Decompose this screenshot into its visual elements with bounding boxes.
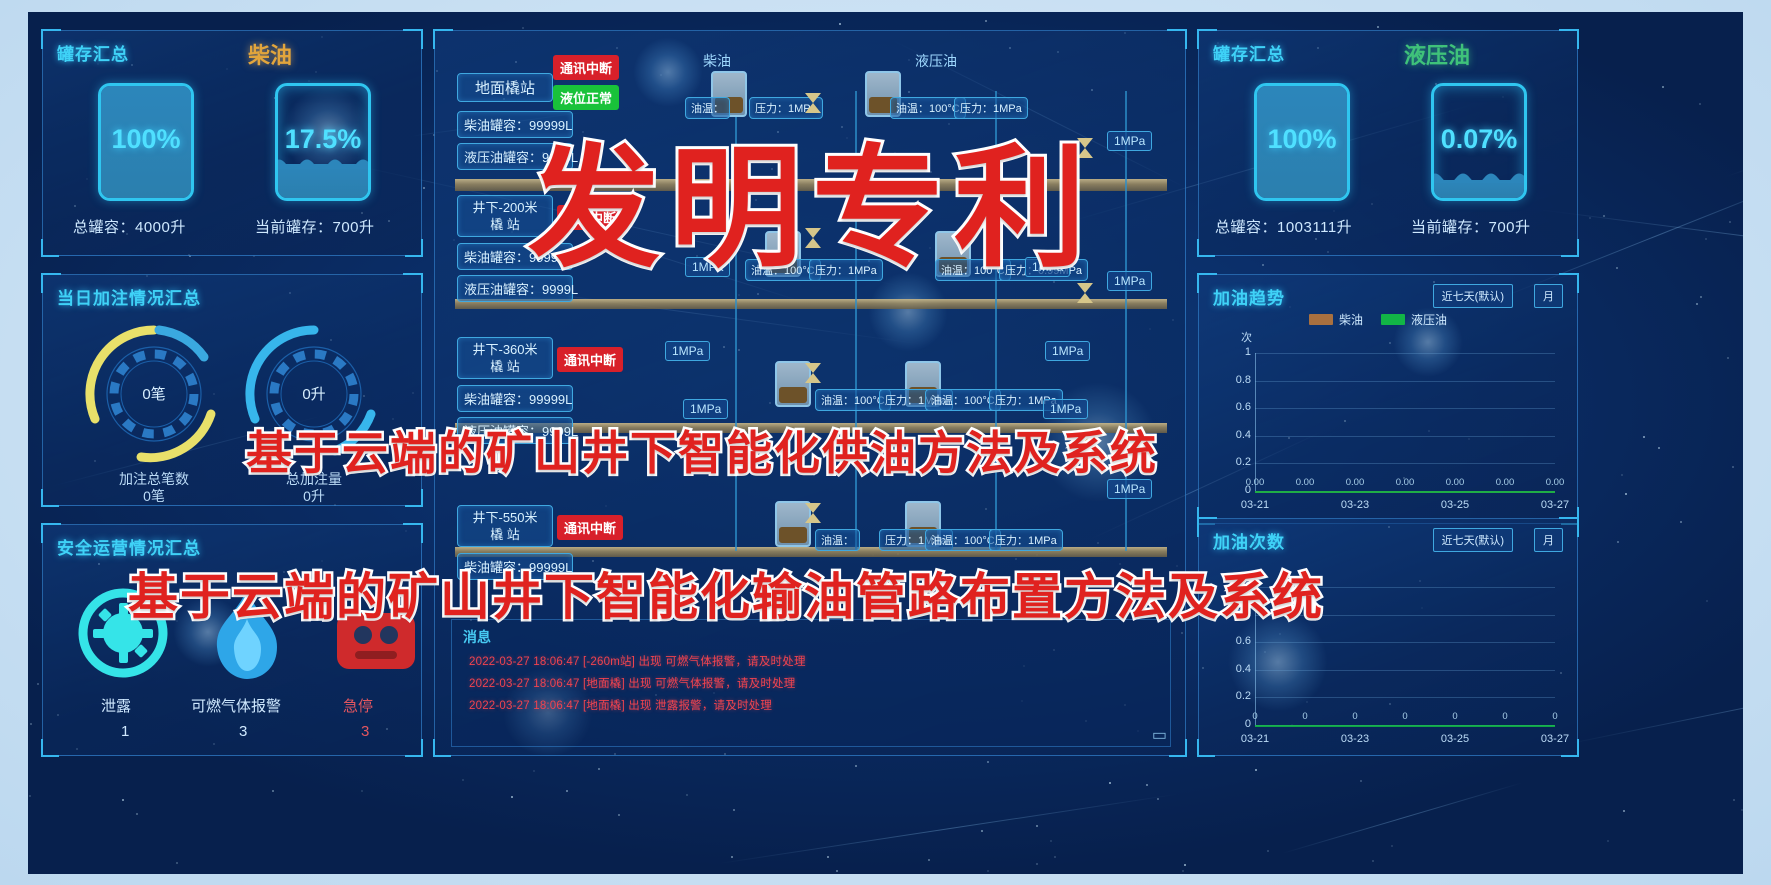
station-name: 地面橇站 — [457, 73, 553, 102]
log-line: 2022-03-27 18:06:47 [地面橇] 出现 可燃气体报警，请及时处… — [469, 675, 795, 691]
data-point-label: 0.00 — [1292, 477, 1318, 488]
chart-plot-area: 次00.20.40.60.8103-210.000.0003-230.000.0… — [1209, 327, 1569, 517]
watermark-line2: 基于云端的矿山井下智能化输油管路布置方法及系统 — [128, 557, 1324, 629]
pressure-tag: 1MPa — [1043, 399, 1088, 419]
data-point-label: 0 — [1342, 711, 1368, 722]
series-line-液压油 — [1255, 491, 1555, 493]
gauge1-sublabel: 0笔 — [79, 488, 229, 505]
label-total-capacity: 总罐容：1003111升 — [1215, 216, 1352, 237]
tank-current-pct: 0.07% — [1434, 124, 1524, 155]
wave-icon — [275, 155, 371, 169]
data-point-label: 0 — [1242, 711, 1268, 722]
panel-subtitle-diesel: 柴油 — [248, 38, 292, 70]
gauge1-label: 加注总笔数 — [79, 471, 229, 488]
x-tick-label: 03-21 — [1239, 499, 1271, 511]
collapse-icon[interactable]: ▭ — [1152, 725, 1167, 745]
tank-current-diesel: 17.5% — [275, 83, 371, 201]
x-tick-label: 03-23 — [1339, 733, 1371, 745]
y-tick-label: 1 — [1225, 346, 1251, 358]
grid-line — [1255, 697, 1555, 698]
pressure-tag: 1MPa — [1107, 271, 1152, 291]
x-tick-label: 03-27 — [1539, 499, 1571, 511]
tank-total-hydraulic: 100% — [1254, 83, 1350, 201]
panel-refuel-count-chart: 加油次数 近七天(默认) 月 00.20.40.60.8103-210003-2… — [1198, 518, 1578, 756]
x-tick-label: 03-25 — [1439, 733, 1471, 745]
panel-tank-summary-hydraulic: 罐存汇总 液压油 100% 0.07% 总罐容：1003111升 当前罐存：70… — [1198, 30, 1578, 256]
x-tick-label: 03-27 — [1539, 733, 1571, 745]
panel-subtitle-hydraulic: 液压油 — [1404, 38, 1470, 70]
station-name: 井下-550米橇 站 — [457, 505, 553, 547]
data-point-label: 0 — [1292, 711, 1318, 722]
tank-current-hydraulic: 0.07% — [1431, 83, 1527, 201]
y-axis-line — [1255, 353, 1256, 491]
count-range-last7-button[interactable]: 近七天(默认) — [1433, 528, 1513, 552]
grid-line — [1255, 436, 1555, 437]
panel-title: 加油趋势 — [1213, 284, 1285, 309]
gauge-value: 0笔 — [79, 383, 229, 404]
grid-line — [1255, 381, 1555, 382]
watermark-line1: 基于云端的矿山井下智能化供油方法及系统 — [246, 417, 1158, 483]
legend-item[interactable]: 液压油 — [1381, 311, 1447, 328]
gauge-value: 0升 — [239, 383, 389, 404]
grid-line — [1255, 642, 1555, 643]
legend-label: 柴油 — [1339, 311, 1363, 328]
data-point-label: 0.00 — [1342, 477, 1368, 488]
tank-readout: 压力：1MPa — [989, 529, 1063, 551]
safety-item3-label: 急停 — [343, 695, 373, 716]
data-point-label: 0.00 — [1242, 477, 1268, 488]
data-point-label: 0.00 — [1442, 477, 1468, 488]
tank-current-pct: 17.5% — [278, 124, 368, 155]
log-line: 2022-03-27 18:06:47 [-260m站] 出现 可燃气体报警，请… — [469, 653, 806, 669]
watermark-main: 发明专利 — [528, 102, 1096, 293]
grid-line — [1255, 353, 1555, 354]
x-tick-label: 03-21 — [1239, 733, 1271, 745]
trend-range-last7-button[interactable]: 近七天(默认) — [1433, 284, 1513, 308]
tank-fill-indicator — [779, 527, 807, 543]
data-point-label: 0.00 — [1392, 477, 1418, 488]
y-tick-label: 0.4 — [1225, 663, 1251, 675]
panel-refuel-trend-chart: 加油趋势 近七天(默认) 月 柴油 液压油 次00.20.40.60.8103-… — [1198, 274, 1578, 524]
station-status-badge: 通讯中断 — [557, 347, 623, 372]
valve-icon — [803, 501, 823, 525]
data-point-label: 0 — [1492, 711, 1518, 722]
station-capacity-row: 柴油罐容：99999L — [457, 385, 573, 412]
tank-total-pct: 100% — [101, 124, 191, 155]
legend-item[interactable]: 柴油 — [1309, 311, 1363, 328]
safety-item1-label: 泄露 — [101, 695, 131, 716]
station-status-badge: 通讯中断 — [557, 515, 623, 540]
y-tick-label: 0.6 — [1225, 401, 1251, 413]
outer-frame: 罐存汇总 柴油 100% 17.5% 总罐容：4000升 当前罐存：700升 当… — [0, 0, 1771, 885]
y-tick-label: 0.2 — [1225, 456, 1251, 468]
pressure-tag: 1MPa — [1107, 131, 1152, 151]
data-point-label: 0.00 — [1542, 477, 1568, 488]
valve-icon — [803, 361, 823, 385]
grid-line — [1255, 463, 1555, 464]
grid-line — [1255, 408, 1555, 409]
safety-item2-value: 3 — [239, 723, 247, 740]
panel-title: 加油次数 — [1213, 528, 1285, 553]
data-point-label: 0 — [1442, 711, 1468, 722]
y-tick-label: 0.4 — [1225, 429, 1251, 441]
count-range-month-button[interactable]: 月 — [1534, 528, 1563, 552]
tank-header-diesel: 柴油 — [703, 51, 731, 71]
label-current-stock: 当前罐存：700升 — [1411, 216, 1531, 237]
tank-header-hydraulic: 液压油 — [915, 51, 957, 71]
dashboard-screen: 罐存汇总 柴油 100% 17.5% 总罐容：4000升 当前罐存：700升 当… — [28, 12, 1743, 874]
safety-item2-label: 可燃气体报警 — [191, 695, 281, 716]
trend-range-month-button[interactable]: 月 — [1534, 284, 1563, 308]
grid-line — [1255, 670, 1555, 671]
legend-label: 液压油 — [1411, 311, 1447, 328]
tank-fill-indicator — [779, 387, 807, 403]
pressure-tag: 1MPa — [665, 341, 710, 361]
y-tick-label: 0.8 — [1225, 374, 1251, 386]
legend-swatch — [1309, 314, 1333, 325]
data-point-label: 0.00 — [1492, 477, 1518, 488]
y-axis-label: 次 — [1241, 329, 1252, 345]
panel-title: 罐存汇总 — [57, 40, 129, 65]
data-point-label: 0 — [1392, 711, 1418, 722]
panel-tank-summary-diesel: 罐存汇总 柴油 100% 17.5% 总罐容：4000升 当前罐存：700升 — [42, 30, 422, 256]
log-line: 2022-03-27 18:06:47 [地面橇] 出现 泄露报警，请及时处理 — [469, 697, 772, 713]
label-current-stock: 当前罐存：700升 — [255, 216, 375, 237]
pressure-tag: 1MPa — [683, 399, 728, 419]
data-point-label: 0 — [1542, 711, 1568, 722]
panel-title: 罐存汇总 — [1213, 40, 1285, 65]
y-tick-label: 0.6 — [1225, 635, 1251, 647]
station-status-badge: 通讯中断 — [553, 55, 619, 80]
x-tick-label: 03-25 — [1439, 499, 1471, 511]
gauge-refuel-count: 0笔 — [79, 319, 229, 469]
y-tick-label: 0.2 — [1225, 690, 1251, 702]
label-total-capacity: 总罐容：4000升 — [73, 216, 186, 237]
panel-title: 当日加注情况汇总 — [57, 284, 201, 309]
tank-readout: 油温： — [815, 529, 860, 551]
x-tick-label: 03-23 — [1339, 499, 1371, 511]
tank-total-diesel: 100% — [98, 83, 194, 201]
safety-item1-value: 1 — [121, 723, 129, 740]
tank-total-pct: 100% — [1257, 124, 1347, 155]
series-line-次数 — [1255, 725, 1555, 727]
wave-icon — [1431, 169, 1527, 183]
log-title: 消息 — [463, 627, 491, 647]
safety-item3-value: 3 — [361, 723, 369, 740]
legend-swatch — [1381, 314, 1405, 325]
station-name: 井下-360米橇 站 — [457, 337, 553, 379]
panel-title: 安全运营情况汇总 — [57, 534, 201, 559]
gauge2-sublabel: 0升 — [239, 488, 389, 505]
pressure-tag: 1MPa — [1045, 341, 1090, 361]
